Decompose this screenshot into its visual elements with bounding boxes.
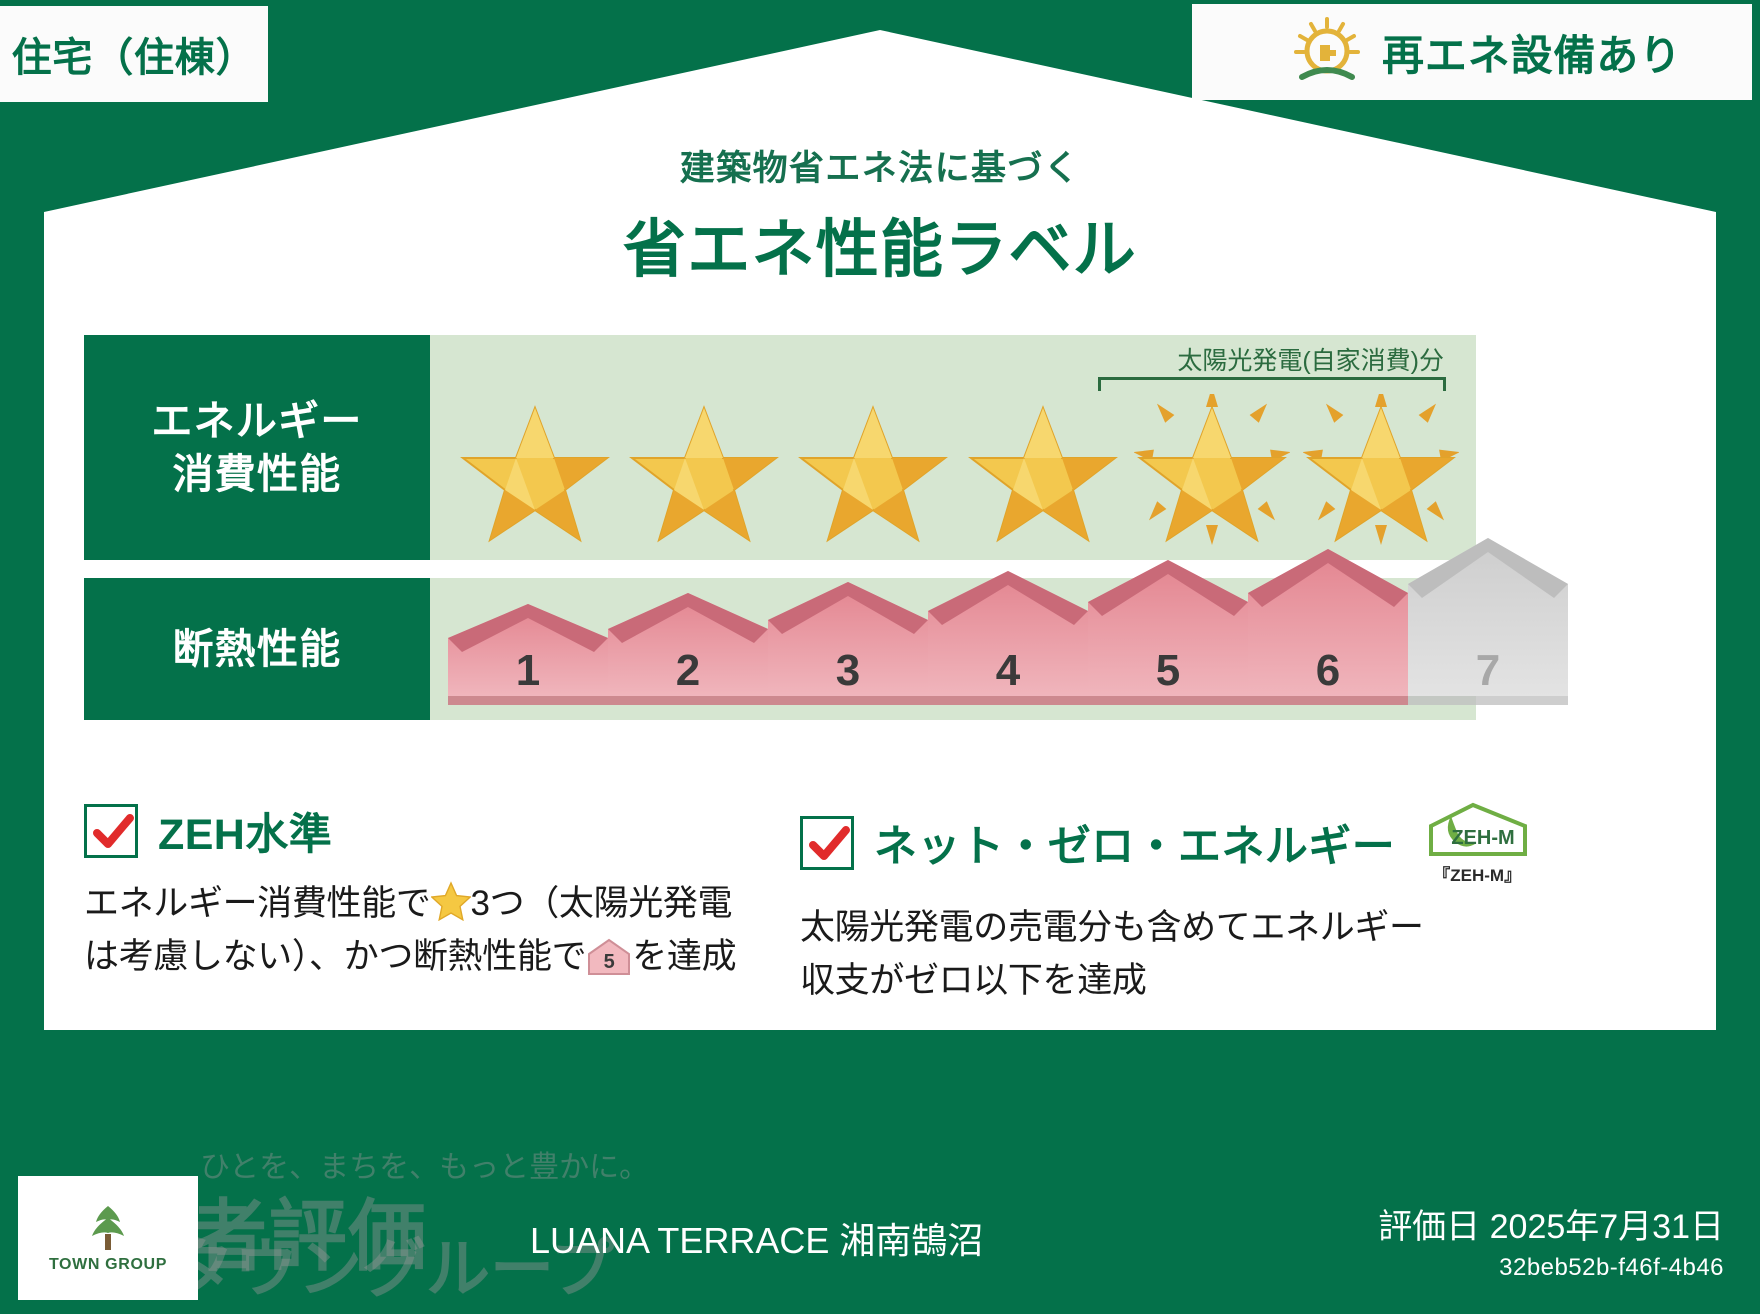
- row-insulation-panel: 1 2: [430, 578, 1476, 720]
- row-energy-performance: エネルギー 消費性能 太陽光発電(自家消費)分: [84, 335, 1476, 560]
- zeh-desc-part-a: エネルギー消費性能で: [84, 884, 431, 923]
- insulation-level-number: 1: [448, 646, 608, 696]
- star-filled: [795, 394, 951, 546]
- tree-icon: [82, 1202, 134, 1254]
- insulation-level-5: 5: [1088, 560, 1248, 706]
- net-zero-energy-block: ネット・ゼロ・エネルギー ZEH-M 『ZEH-M』 太陽光発電の売電分も含めて…: [800, 800, 1500, 1007]
- row-energy-panel: 太陽光発電(自家消費)分: [430, 335, 1476, 560]
- inline-star-icon: [431, 881, 471, 921]
- check-icon: [807, 823, 851, 867]
- third-party-seal: TOWN GROUP: [18, 1176, 198, 1300]
- insulation-level-number: 4: [928, 646, 1088, 696]
- page-title-group: 建築物省エネ法に基づく 省エネ性能ラベル: [0, 140, 1760, 290]
- badge-renewable-label: 再エネ設備あり: [1382, 22, 1682, 83]
- star-rating-group: [450, 383, 1466, 556]
- solar-sun-icon: [1290, 15, 1364, 89]
- row-insulation-performance: 断熱性能 1: [84, 578, 1476, 720]
- insulation-level-number: 2: [608, 646, 768, 696]
- badge-renewable-equipment: 再エネ設備あり: [1192, 4, 1752, 100]
- row-energy-label: エネルギー 消費性能: [84, 335, 430, 560]
- insulation-level-number: 6: [1248, 646, 1408, 696]
- zeh-m-caption: 『ZEH-M』: [1433, 861, 1521, 886]
- star-filled: [457, 394, 613, 546]
- insulation-level-7: 7: [1408, 538, 1568, 706]
- zeh-m-house-icon: ZEH-M: [1421, 800, 1533, 860]
- label-background: 住宅（住棟） 再エネ設備あり 建築物省エネ法に基づく: [0, 0, 1760, 1314]
- evaluation-id: 32beb52b-f46f-4b46: [1378, 1254, 1724, 1282]
- nze-heading: ネット・ゼロ・エネルギー ZEH-M 『ZEH-M』: [800, 800, 1500, 886]
- zeh-standard-block: ZEH水準 エネルギー消費性能で 3つ（太陽光発電 は考慮しない）、かつ断熱性能…: [84, 800, 774, 983]
- nze-desc-line1: 太陽光発電の売電分も含めてエネルギー: [800, 908, 1424, 947]
- star-solar: [1303, 394, 1459, 546]
- nze-title: ネット・ゼロ・エネルギー: [874, 812, 1395, 874]
- zeh-m-logo: ZEH-M 『ZEH-M』: [1421, 800, 1533, 886]
- check-icon: [91, 811, 135, 855]
- inline-insulation-level-icon: 5: [586, 936, 632, 978]
- zeh-desc-part-c: は考慮しない）、かつ断熱性能で: [84, 937, 586, 976]
- row-energy-label-line2: 消費性能: [173, 448, 342, 500]
- zeh-description: エネルギー消費性能で 3つ（太陽光発電 は考慮しない）、かつ断熱性能で 5 を達…: [84, 878, 774, 983]
- insulation-level-group: 1 2: [448, 578, 1460, 720]
- nze-checkbox[interactable]: [800, 816, 854, 870]
- row-energy-label-line1: エネルギー: [151, 395, 362, 447]
- zeh-heading: ZEH水準: [84, 800, 774, 862]
- row-insulation-label: 断熱性能: [84, 578, 430, 720]
- badge-dwelling-label: 住宅（住棟）: [12, 25, 257, 83]
- svg-text:ZEH-M: ZEH-M: [1452, 827, 1515, 849]
- insulation-level-4: 4: [928, 571, 1088, 706]
- star-solar: [1134, 394, 1290, 546]
- property-name: LUANA TERRACE 湘南鵠沼: [530, 1212, 983, 1264]
- nze-description: 太陽光発電の売電分も含めてエネルギー 収支がゼロ以下を達成: [800, 902, 1500, 1007]
- star-filled: [965, 394, 1121, 546]
- zeh-desc-part-b: 3つ（太陽光発電: [471, 884, 733, 923]
- row-insulation-label-text: 断熱性能: [173, 623, 342, 675]
- zeh-checkbox[interactable]: [84, 804, 138, 858]
- page-title: 省エネ性能ラベル: [0, 199, 1760, 290]
- insulation-level-1: 1: [448, 604, 608, 706]
- evaluation-date: 評価日 2025年7月31日: [1378, 1199, 1724, 1248]
- insulation-level-number: 7: [1408, 646, 1568, 696]
- third-party-label: TOWN GROUP: [49, 1256, 167, 1274]
- insulation-level-number: 3: [768, 646, 928, 696]
- insulation-level-number: 5: [1088, 646, 1248, 696]
- title-subline: 建築物省エネ法に基づく: [0, 140, 1760, 191]
- zeh-title: ZEH水準: [158, 800, 332, 862]
- zeh-desc-part-d: を達成: [632, 937, 736, 976]
- insulation-level-2: 2: [608, 593, 768, 706]
- insulation-level-6: 6: [1248, 549, 1408, 706]
- evaluation-info: 評価日 2025年7月31日 32beb52b-f46f-4b46: [1378, 1199, 1724, 1282]
- solar-annotation-label: 太陽光発電(自家消費)分: [1177, 341, 1444, 377]
- badge-dwelling-type: 住宅（住棟）: [0, 6, 268, 102]
- svg-text:5: 5: [604, 951, 615, 973]
- star-filled: [626, 394, 782, 546]
- footer-bar: ひとを、まちを、もっと豊かに。 第三者評価 タウングループ TOWN GROUP…: [0, 1030, 1760, 1314]
- insulation-level-3: 3: [768, 582, 928, 706]
- nze-desc-line2: 収支がゼロ以下を達成: [800, 961, 1147, 1000]
